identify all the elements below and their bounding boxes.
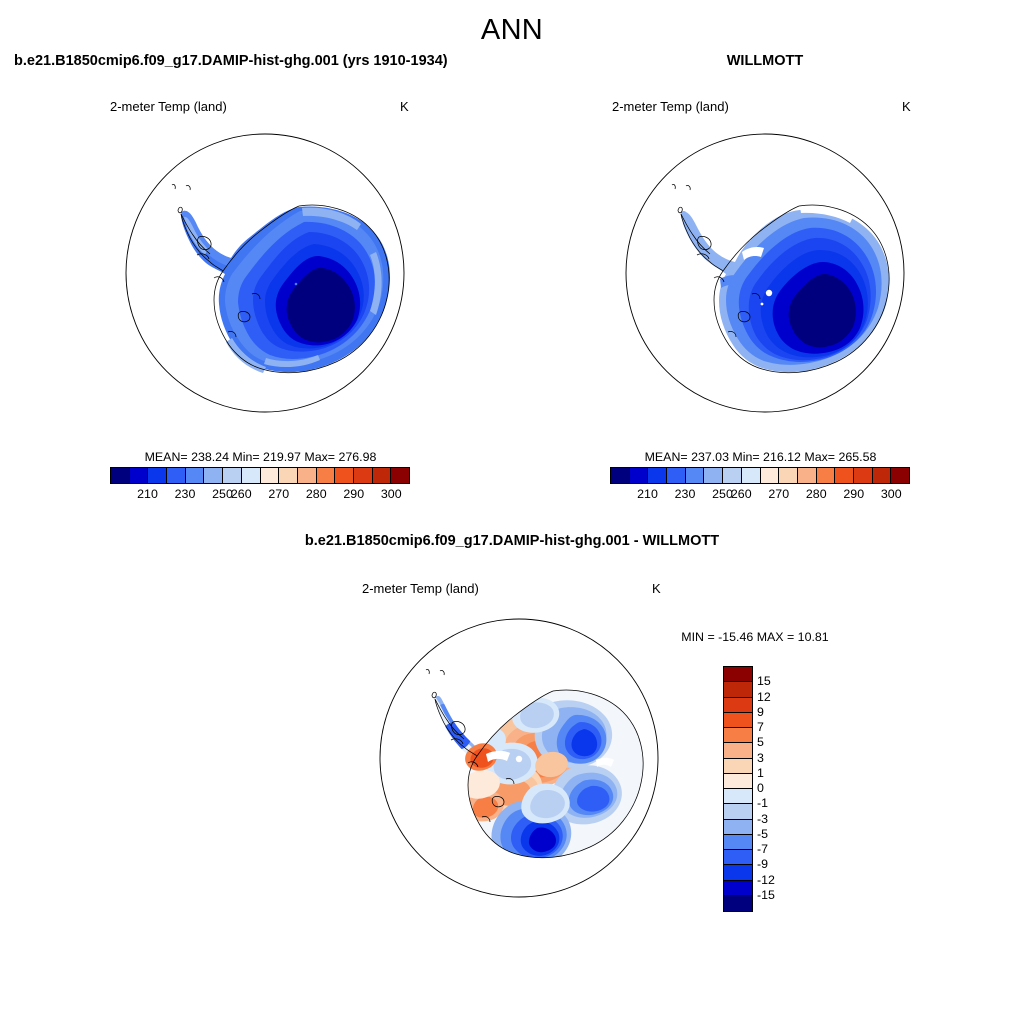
colorbar-cell — [891, 468, 909, 483]
colorbar-cell — [724, 713, 752, 728]
colorbar-tick-label: -3 — [757, 812, 768, 826]
colorbar-cell — [724, 835, 752, 850]
colorbar-cell — [817, 468, 836, 483]
right-variable-label: 2-meter Temp (land) — [612, 99, 729, 114]
colorbar-tick-label: 230 — [175, 487, 196, 501]
left-colorbar: 210230250260270280290300 — [110, 467, 410, 507]
colorbar-tick-label: 3 — [757, 751, 764, 765]
colorbar-tick-label: 230 — [675, 487, 696, 501]
colorbar-cell — [354, 468, 373, 483]
colorbar-cell — [724, 789, 752, 804]
colorbar-tick-label: 5 — [757, 735, 764, 749]
colorbar-cell — [724, 820, 752, 835]
right-stats: MEAN= 237.03 Min= 216.12 Max= 265.58 — [603, 450, 918, 464]
colorbar-cell — [723, 468, 742, 483]
colorbar-cell — [761, 468, 780, 483]
colorbar-tick-label: 15 — [757, 674, 771, 688]
colorbar-cell — [724, 865, 752, 880]
colorbar-tick-label: -12 — [757, 873, 775, 887]
colorbar-cell — [835, 468, 854, 483]
diff-unit-label: K — [652, 581, 661, 596]
colorbar-cell — [611, 468, 630, 483]
colorbar-cell — [186, 468, 205, 483]
colorbar-cell — [704, 468, 723, 483]
colorbar-cell — [148, 468, 167, 483]
colorbar-cell — [724, 896, 752, 911]
left-map-plot — [124, 132, 406, 414]
right-colorbar-ticks: 210230250260270280290300 — [610, 487, 910, 507]
colorbar-cell — [854, 468, 873, 483]
colorbar-cell — [873, 468, 892, 483]
colorbar-cell — [724, 728, 752, 743]
colorbar-cell — [724, 850, 752, 865]
colorbar-tick-label: 280 — [806, 487, 827, 501]
diff-panel-title: b.e21.B1850cmip6.f09_g17.DAMIP-hist-ghg.… — [262, 533, 762, 549]
colorbar-tick-label: 280 — [306, 487, 327, 501]
colorbar-tick-label: 12 — [757, 690, 771, 704]
colorbar-cell — [667, 468, 686, 483]
colorbar-cell — [630, 468, 649, 483]
right-panel-title: WILLMOTT — [620, 53, 910, 69]
colorbar-cell — [724, 774, 752, 789]
colorbar-cell — [391, 468, 409, 483]
page-title: ANN — [0, 14, 1024, 47]
colorbar-tick-label: 270 — [268, 487, 289, 501]
colorbar-cell — [223, 468, 242, 483]
colorbar-tick-label: 250 — [212, 487, 233, 501]
colorbar-tick-label: -9 — [757, 857, 768, 871]
right-colorbar: 210230250260270280290300 — [610, 467, 910, 507]
colorbar-cell — [724, 759, 752, 774]
right-map-plot — [624, 132, 906, 414]
colorbar-tick-label: -7 — [757, 842, 768, 856]
colorbar-tick-label: -15 — [757, 888, 775, 902]
diff-stats: MIN = -15.46 MAX = 10.81 — [620, 630, 890, 644]
colorbar-cell — [204, 468, 223, 483]
colorbar-tick-label: 210 — [137, 487, 158, 501]
colorbar-cell — [298, 468, 317, 483]
colorbar-cell — [111, 468, 130, 483]
colorbar-cell — [373, 468, 392, 483]
colorbar-cell — [130, 468, 149, 483]
colorbar-tick-label: 260 — [731, 487, 752, 501]
colorbar-cell — [167, 468, 186, 483]
colorbar-cell — [724, 682, 752, 697]
colorbar-cell — [724, 698, 752, 713]
right-unit-label: K — [902, 99, 911, 114]
colorbar-cell — [724, 881, 752, 896]
colorbar-tick-label: 0 — [757, 781, 764, 795]
colorbar-tick-label: -1 — [757, 796, 768, 810]
right-colorbar-cells — [610, 467, 910, 484]
left-unit-label: K — [400, 99, 409, 114]
colorbar-cell — [742, 468, 761, 483]
colorbar-cell — [648, 468, 667, 483]
left-panel-title: b.e21.B1850cmip6.f09_g17.DAMIP-hist-ghg.… — [14, 53, 448, 69]
colorbar-cell — [724, 743, 752, 758]
colorbar-tick-label: 9 — [757, 705, 764, 719]
colorbar-tick-label: 7 — [757, 720, 764, 734]
colorbar-tick-label: 290 — [843, 487, 864, 501]
colorbar-cell — [317, 468, 336, 483]
colorbar-tick-label: 210 — [637, 487, 658, 501]
colorbar-cell — [261, 468, 280, 483]
colorbar-tick-label: 290 — [343, 487, 364, 501]
colorbar-cell — [779, 468, 798, 483]
colorbar-tick-label: 1 — [757, 766, 764, 780]
left-colorbar-cells — [110, 467, 410, 484]
left-stats: MEAN= 238.24 Min= 219.97 Max= 276.98 — [103, 450, 418, 464]
colorbar-cell — [724, 667, 752, 682]
colorbar-tick-label: 260 — [231, 487, 252, 501]
colorbar-cell — [242, 468, 261, 483]
colorbar-cell — [798, 468, 817, 483]
colorbar-cell — [686, 468, 705, 483]
left-variable-label: 2-meter Temp (land) — [110, 99, 227, 114]
colorbar-cell — [724, 804, 752, 819]
diff-map-plot — [378, 617, 660, 899]
colorbar-cell — [335, 468, 354, 483]
diff-colorbar-cells — [723, 666, 753, 912]
colorbar-tick-label: -5 — [757, 827, 768, 841]
colorbar-tick-label: 300 — [381, 487, 402, 501]
colorbar-tick-label: 250 — [712, 487, 733, 501]
colorbar-cell — [279, 468, 298, 483]
diff-variable-label: 2-meter Temp (land) — [362, 581, 479, 596]
colorbar-tick-label: 300 — [881, 487, 902, 501]
colorbar-tick-label: 270 — [768, 487, 789, 501]
left-colorbar-ticks: 210230250260270280290300 — [110, 487, 410, 507]
